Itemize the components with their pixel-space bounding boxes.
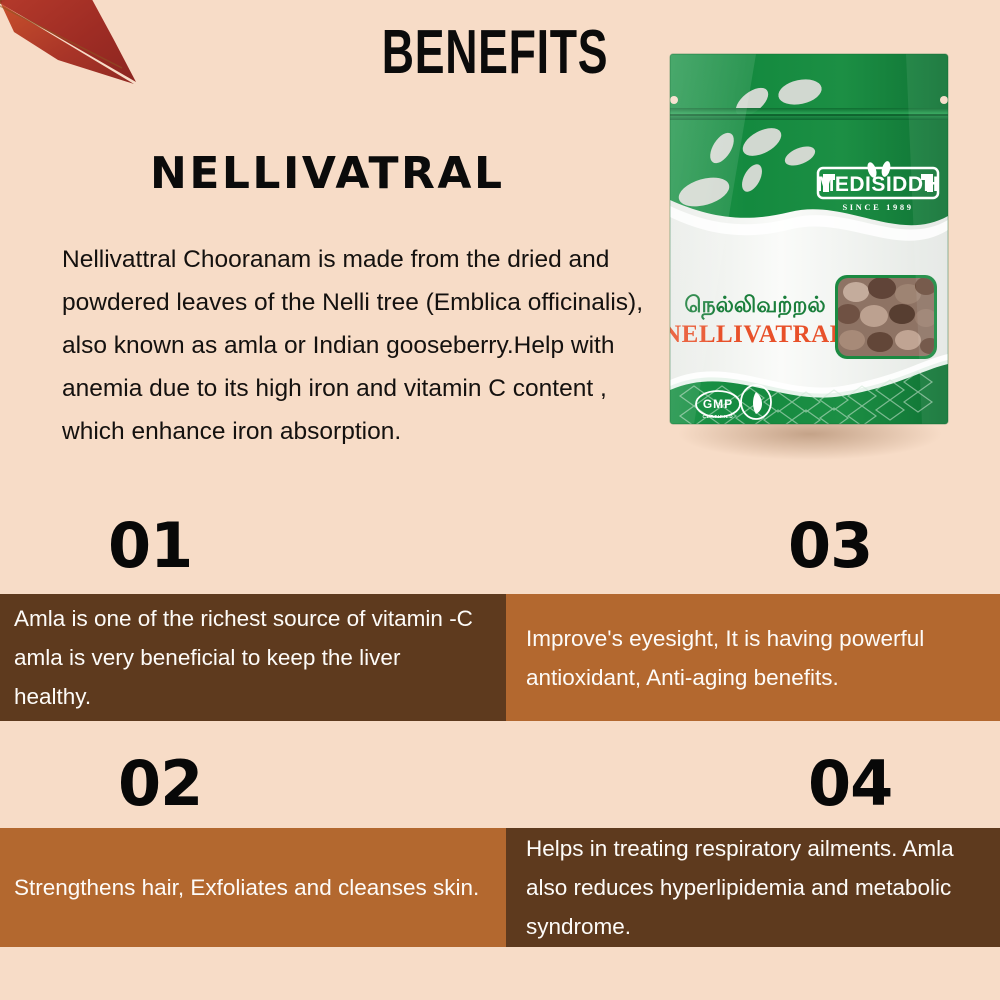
svg-text:CERTIFIED: CERTIFIED: [703, 414, 734, 419]
svg-text:GMP: GMP: [703, 397, 733, 411]
benefit-text-01: Amla is one of the richest source of vit…: [14, 599, 482, 716]
benefit-band-row-2: Strengthens hair, Exfoliates and cleanse…: [0, 828, 1000, 947]
benefit-text-04: Helps in treating respiratory ailments. …: [518, 829, 986, 946]
benefit-block-04: Helps in treating respiratory ailments. …: [500, 828, 1000, 947]
benefit-block-02: Strengthens hair, Exfoliates and cleanse…: [0, 828, 500, 947]
benefit-number-03: 03: [788, 515, 872, 577]
package-tagline-text: SINCE 1989: [842, 202, 913, 212]
benefit-text-02: Strengthens hair, Exfoliates and cleanse…: [14, 868, 482, 907]
benefit-band-row-1: Amla is one of the richest source of vit…: [0, 594, 1000, 721]
intro-paragraph: Nellivattral Chooranam is made from the …: [62, 238, 662, 453]
benefit-number-01: 01: [108, 515, 192, 577]
product-name-heading: NELLIVATRAL: [150, 152, 505, 196]
benefit-block-03: Improve's eyesight, It is having powerfu…: [500, 594, 1000, 721]
benefits-poster: BENEFITS NELLIVATRAL Nellivattral Choora…: [0, 0, 1000, 1000]
benefit-number-02: 02: [118, 753, 202, 815]
benefit-number-04: 04: [808, 753, 892, 815]
benefit-text-03: Improve's eyesight, It is having powerfu…: [518, 619, 986, 697]
benefit-block-01: Amla is one of the richest source of vit…: [0, 594, 500, 721]
product-package-image: MEDISIDDH SINCE 1989 நெல்லிவற்றல் NELLIV…: [660, 30, 978, 470]
